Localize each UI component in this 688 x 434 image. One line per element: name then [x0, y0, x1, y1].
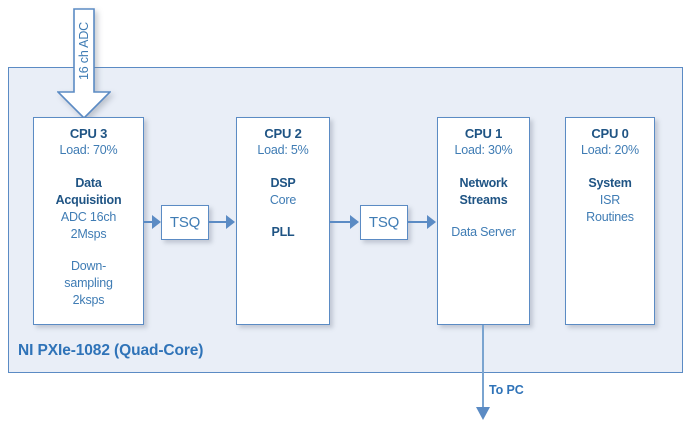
cpu3-detail-line4: sampling [34, 275, 143, 292]
cpu1-detail-line1: Data Server [438, 224, 529, 241]
cpu-box-cpu0[interactable]: CPU 0 Load: 20% System ISR Routines [565, 117, 655, 325]
cpu3-detail-line5: 2ksps [34, 292, 143, 309]
spacer [566, 159, 654, 175]
cpu-box-cpu3[interactable]: CPU 3 Load: 70% Data Acquisition ADC 16c… [33, 117, 144, 325]
cpu3-title: CPU 3 [34, 125, 143, 142]
spacer [237, 159, 329, 175]
cpu0-title: CPU 0 [566, 125, 654, 142]
cpu2-title: CPU 2 [237, 125, 329, 142]
cpu3-role-line2: Acquisition [34, 192, 143, 209]
cpu0-load: Load: 20% [566, 142, 654, 159]
cpu3-role-line1: Data [34, 175, 143, 192]
cpu2-role-line2: PLL [237, 224, 329, 241]
cpu2-load: Load: 5% [237, 142, 329, 159]
spacer [438, 159, 529, 175]
tsq-box-1[interactable]: TSQ [161, 205, 209, 240]
connector-cpu2-to-tsq2 [330, 221, 352, 223]
spacer [237, 209, 329, 224]
cpu3-load: Load: 70% [34, 142, 143, 159]
connector-cpu1-to-pc [482, 325, 484, 410]
to-pc-label: To PC [489, 383, 524, 397]
arrowhead-cpu2-to-tsq2-icon [350, 215, 359, 229]
adc-input-arrow-icon [57, 8, 111, 120]
arrowhead-to-pc-icon [476, 407, 490, 420]
cpu-box-cpu1[interactable]: CPU 1 Load: 30% Network Streams Data Ser… [437, 117, 530, 325]
cpu2-role-line1: DSP [237, 175, 329, 192]
cpu1-title: CPU 1 [438, 125, 529, 142]
cpu1-role-line1: Network [438, 175, 529, 192]
cpu1-load: Load: 30% [438, 142, 529, 159]
spacer [34, 159, 143, 175]
cpu0-role-line1: System [566, 175, 654, 192]
tsq-box-2[interactable]: TSQ [360, 205, 408, 240]
cpu2-detail-line1: Core [237, 192, 329, 209]
chassis-title: NI PXIe-1082 (Quad-Core) [18, 342, 203, 360]
spacer [34, 243, 143, 258]
arrowhead-tsq1-to-cpu2-icon [226, 215, 235, 229]
cpu0-detail-line1: ISR [566, 192, 654, 209]
cpu3-detail-line2: 2Msps [34, 226, 143, 243]
arrowhead-cpu3-to-tsq1-icon [152, 215, 161, 229]
cpu0-detail-line2: Routines [566, 209, 654, 226]
cpu3-detail-line3: Down- [34, 258, 143, 275]
cpu3-detail-line1: ADC 16ch [34, 209, 143, 226]
cpu1-role-line2: Streams [438, 192, 529, 209]
spacer [438, 209, 529, 224]
arrowhead-tsq2-to-cpu1-icon [427, 215, 436, 229]
cpu-box-cpu2[interactable]: CPU 2 Load: 5% DSP Core PLL [236, 117, 330, 325]
